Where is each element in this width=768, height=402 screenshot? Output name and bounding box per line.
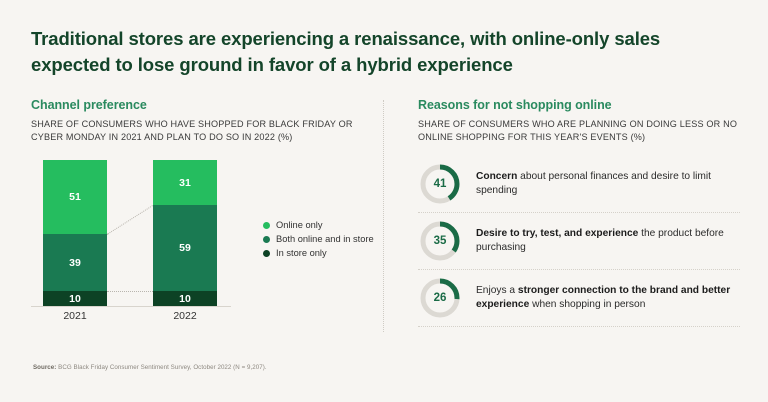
legend-dot-icon-online-only [263, 222, 270, 229]
source-text: BCG Black Friday Consumer Sentiment Surv… [56, 364, 266, 371]
connector-line-bottom [107, 291, 153, 292]
legend-item-online-only[interactable]: Online only [263, 220, 374, 230]
reasons-heading: Reasons for not shopping online [418, 98, 738, 112]
donut-gauge-icon-2: 35 [418, 219, 462, 263]
legend-dot-icon-both [263, 236, 270, 243]
x-axis-line [31, 306, 231, 307]
reasons-list: 41 Concern about personal finances and d… [418, 156, 740, 327]
donut-gauge-icon-1: 41 [418, 162, 462, 206]
legend-item-in-store[interactable]: In store only [263, 248, 374, 258]
connector-line-top [107, 205, 154, 235]
x-axis-label-2021: 2021 [43, 310, 107, 322]
source-label: Source: [33, 364, 56, 371]
reason-bold-1: Concern [476, 171, 517, 182]
bar-segment-both-2022: 59 [153, 205, 217, 291]
page-title: Traditional stores are experiencing a re… [31, 26, 721, 77]
panel-divider [383, 100, 384, 332]
channel-preference-subheading: SHARE OF CONSUMERS WHO HAVE SHOPPED FOR … [31, 118, 371, 144]
list-item[interactable]: 35 Desire to try, test, and experience t… [418, 213, 740, 270]
donut-value-1: 41 [418, 162, 462, 206]
x-axis-label-2022: 2022 [153, 310, 217, 322]
bar-group-2021[interactable]: 51 39 10 [43, 160, 107, 306]
reason-lead-3: Enjoys a [476, 285, 518, 296]
x-axis-labels: 2021 2022 [31, 310, 231, 326]
donut-value-2: 35 [418, 219, 462, 263]
stacked-bar-chart: 51 39 10 31 59 10 2021 2022 Online only … [31, 160, 361, 330]
bar-segment-online-only-2021: 51 [43, 160, 107, 234]
reason-text-3: Enjoys a stronger connection to the bran… [476, 284, 740, 313]
channel-preference-heading: Channel preference [31, 98, 371, 112]
donut-gauge-icon-3: 26 [418, 276, 462, 320]
bar-segment-online-only-2022: 31 [153, 160, 217, 205]
legend-label-online-only: Online only [276, 220, 323, 230]
reason-text-1: Concern about personal finances and desi… [476, 170, 740, 199]
chart-plot-area: 51 39 10 31 59 10 2021 2022 [31, 160, 231, 306]
reasons-panel: Reasons for not shopping online SHARE OF… [418, 98, 738, 144]
bar-segment-in-store-2022: 10 [153, 291, 217, 306]
reasons-subheading: SHARE OF CONSUMERS WHO ARE PLANNING ON D… [418, 118, 738, 144]
source-note: Source: BCG Black Friday Consumer Sentim… [33, 364, 267, 371]
bar-segment-in-store-2021: 10 [43, 291, 107, 306]
reason-rest-3: when shopping in person [529, 299, 645, 310]
channel-preference-panel: Channel preference SHARE OF CONSUMERS WH… [31, 98, 371, 144]
reason-text-2: Desire to try, test, and experience the … [476, 227, 740, 256]
legend-dot-icon-in-store [263, 250, 270, 257]
reason-bold-2: Desire to try, test, and experience [476, 228, 638, 239]
donut-value-3: 26 [418, 276, 462, 320]
legend-item-both[interactable]: Both online and in store [263, 234, 374, 244]
list-item[interactable]: 41 Concern about personal finances and d… [418, 156, 740, 213]
bar-segment-both-2021: 39 [43, 234, 107, 291]
legend-label-both: Both online and in store [276, 234, 374, 244]
list-item[interactable]: 26 Enjoys a stronger connection to the b… [418, 270, 740, 327]
bar-group-2022[interactable]: 31 59 10 [153, 160, 217, 306]
legend-label-in-store: In store only [276, 248, 327, 258]
chart-legend: Online only Both online and in store In … [263, 220, 374, 262]
